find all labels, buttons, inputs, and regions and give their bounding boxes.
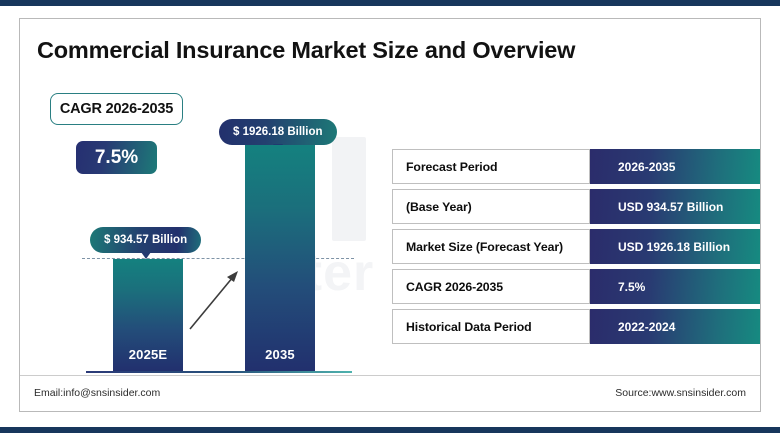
table-row-label-cell: CAGR 2026-2035 <box>392 269 590 304</box>
growth-arrow-icon <box>183 265 247 335</box>
chart-baseline-axis <box>86 371 352 373</box>
bar-2025e-label: 2025E <box>113 347 183 362</box>
footer-divider <box>20 375 760 376</box>
table-row-label-cell: Market Size (Forecast Year) <box>392 229 590 264</box>
table-row-label-cell: Historical Data Period <box>392 309 590 344</box>
table-row-label: Forecast Period <box>406 160 497 174</box>
table-row-value: 2026-2035 <box>618 160 675 174</box>
data-label-2035: $ 1926.18 Billion <box>219 119 337 145</box>
market-info-table: Forecast Period 2026-2035 (Base Year) US… <box>392 149 761 349</box>
table-row: Forecast Period 2026-2035 <box>392 149 761 184</box>
infographic-stage: nter Commercial Insurance Market Size an… <box>0 0 780 433</box>
bar-chart: $ 1926.18 Billion $ 934.57 Billion 2025E… <box>20 19 380 412</box>
table-row-value: USD 934.57 Billion <box>618 200 723 214</box>
infographic-card: nter Commercial Insurance Market Size an… <box>19 18 761 412</box>
top-accent-bar <box>0 0 780 6</box>
table-row: (Base Year) USD 934.57 Billion <box>392 189 761 224</box>
bar-2035: 2035 <box>245 145 315 371</box>
table-row-label: CAGR 2026-2035 <box>406 280 503 294</box>
footer-email: Email:info@snsinsider.com <box>34 387 160 399</box>
table-row: Market Size (Forecast Year) USD 1926.18 … <box>392 229 761 264</box>
table-row-label: Market Size (Forecast Year) <box>406 240 563 254</box>
table-row-value-cell: USD 1926.18 Billion <box>590 229 760 264</box>
table-row-label-cell: (Base Year) <box>392 189 590 224</box>
data-label-2025-text: $ 934.57 Billion <box>104 234 187 246</box>
bar-2025e: 2025E <box>113 259 183 371</box>
bar-2035-label: 2035 <box>245 347 315 362</box>
table-row-value-cell: USD 934.57 Billion <box>590 189 760 224</box>
table-row-value-cell: 2026-2035 <box>590 149 760 184</box>
table-row-value: 7.5% <box>618 280 645 294</box>
bottom-accent-bar <box>0 427 780 433</box>
data-label-2035-text: $ 1926.18 Billion <box>233 126 323 138</box>
table-row: Historical Data Period 2022-2024 <box>392 309 761 344</box>
table-row-value-cell: 2022-2024 <box>590 309 760 344</box>
table-row-label: Historical Data Period <box>406 320 532 334</box>
table-row-value: USD 1926.18 Billion <box>618 240 730 254</box>
footer-source: Source:www.snsinsider.com <box>615 387 746 399</box>
data-label-2025: $ 934.57 Billion <box>90 227 201 253</box>
table-row-value-cell: 7.5% <box>590 269 760 304</box>
table-row: CAGR 2026-2035 7.5% <box>392 269 761 304</box>
table-row-value: 2022-2024 <box>618 320 675 334</box>
table-row-label: (Base Year) <box>406 200 472 214</box>
table-row-label-cell: Forecast Period <box>392 149 590 184</box>
